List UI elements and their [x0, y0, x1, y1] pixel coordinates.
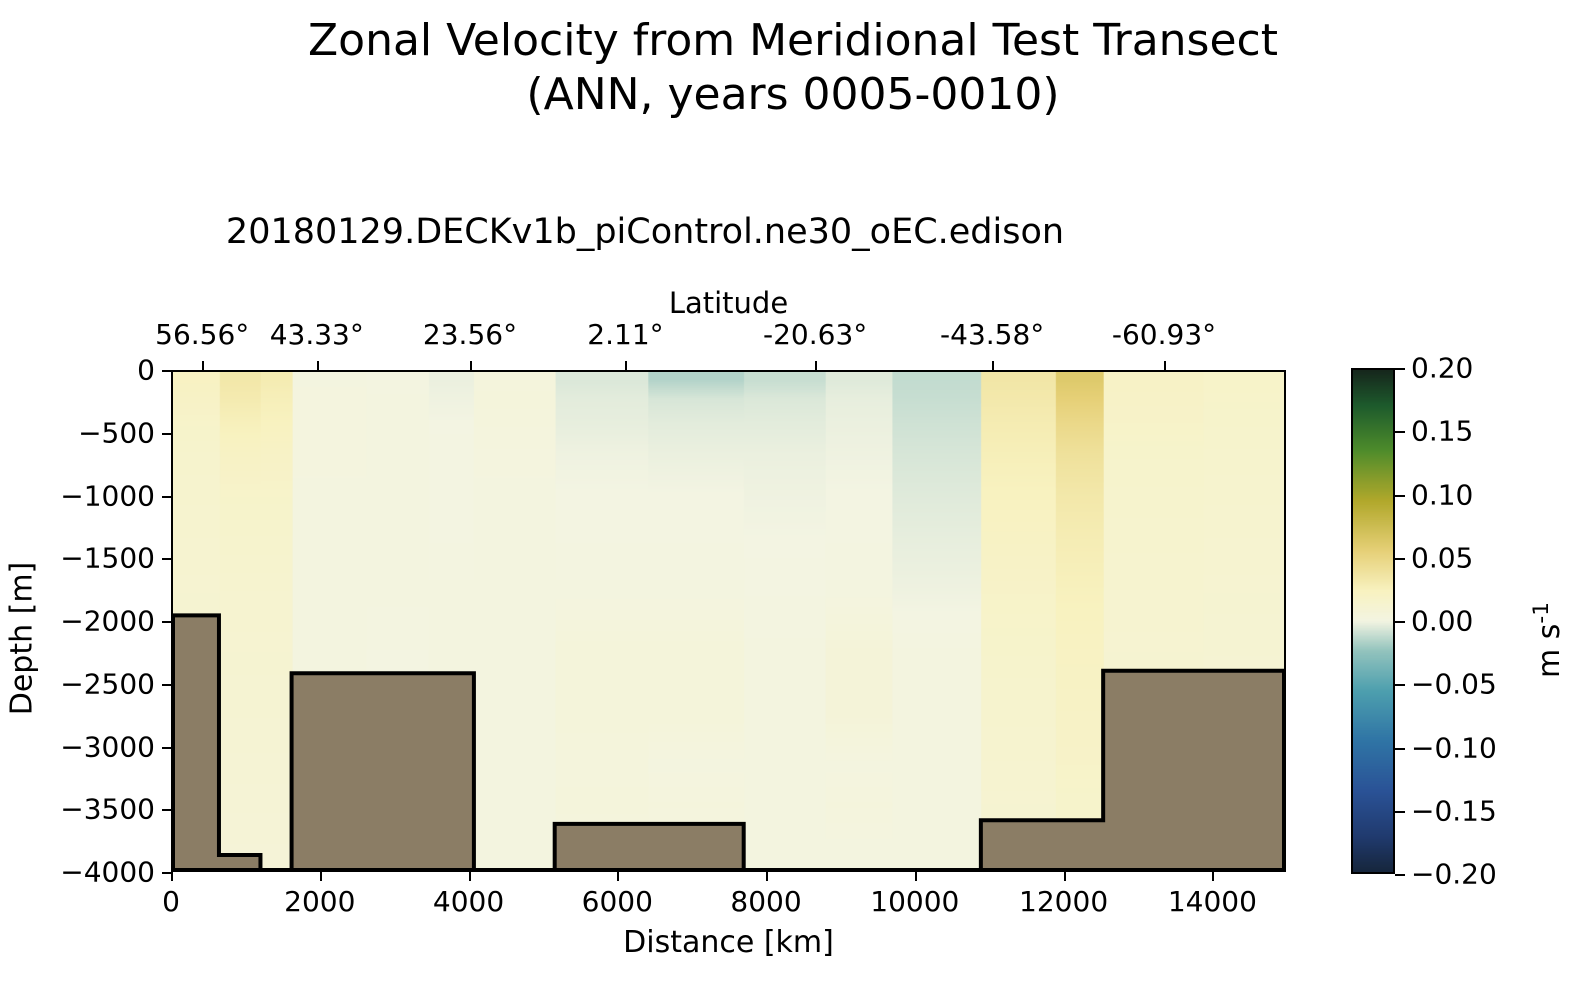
colorbar-tick-label: −0.15	[1411, 794, 1497, 827]
depth-tick-mark	[162, 809, 171, 811]
depth-tick-mark	[162, 496, 171, 498]
colorbar-tick-label: 0.00	[1411, 605, 1473, 638]
colorbar-unit: m s	[1532, 624, 1567, 678]
depth-tick-mark	[162, 370, 171, 372]
colorbar-tick-mark	[1395, 368, 1405, 370]
figure-canvas: Zonal Velocity from Meridional Test Tran…	[0, 0, 1586, 990]
distance-tick-label: 8000	[730, 885, 801, 918]
colorbar-tick-mark	[1395, 558, 1405, 560]
latitude-tick-label: -20.63°	[763, 318, 867, 351]
latitude-tick-label: -43.58°	[940, 318, 1044, 351]
distance-tick-mark	[1064, 872, 1066, 881]
latitude-tick-mark	[992, 361, 994, 370]
colorbar-tick-mark	[1395, 684, 1405, 686]
latitude-tick-mark	[202, 361, 204, 370]
colorbar-tick-mark	[1395, 621, 1405, 623]
top-axis-label: Latitude	[171, 286, 1286, 320]
colorbar-tick-label: 0.10	[1411, 478, 1473, 511]
colorbar-tick-label: −0.10	[1411, 731, 1497, 764]
distance-tick-mark	[320, 872, 322, 881]
bathymetry-polygon	[173, 615, 1284, 870]
colorbar-tick-mark	[1395, 748, 1405, 750]
depth-tick-mark	[162, 747, 171, 749]
colorbar-tick-mark	[1395, 431, 1405, 433]
depth-tick-mark	[162, 684, 171, 686]
bathymetry-mask	[173, 372, 1284, 870]
latitude-tick-mark	[317, 361, 319, 370]
latitude-tick-mark	[625, 361, 627, 370]
depth-tick-mark	[162, 558, 171, 560]
latitude-tick-label: 56.56°	[155, 318, 249, 351]
colorbar-tick-label: −0.20	[1411, 858, 1497, 891]
depth-tick-mark	[162, 621, 171, 623]
colorbar-tick-label: 0.05	[1411, 541, 1473, 574]
latitude-tick-mark	[815, 361, 817, 370]
distance-tick-mark	[1212, 872, 1214, 881]
distance-tick-mark	[171, 872, 173, 881]
plot-axes	[171, 370, 1286, 872]
colorbar	[1351, 368, 1395, 874]
distance-tick-label: 4000	[433, 885, 504, 918]
colorbar-unit-exponent: -1	[1529, 602, 1554, 624]
depth-tick-label: 0	[0, 354, 155, 387]
distance-tick-label: 14000	[1168, 885, 1257, 918]
distance-tick-label: 6000	[582, 885, 653, 918]
distance-tick-mark	[766, 872, 768, 881]
colorbar-tick-mark	[1395, 811, 1405, 813]
latitude-tick-mark	[470, 361, 472, 370]
distance-tick-label: 2000	[284, 885, 355, 918]
depth-tick-mark	[162, 433, 171, 435]
latitude-tick-mark	[1164, 361, 1166, 370]
latitude-tick-label: 2.11°	[587, 318, 663, 351]
distance-tick-mark	[915, 872, 917, 881]
figure-subtitle: 20180129.DECKv1b_piControl.ne30_oEC.edis…	[0, 212, 1290, 252]
colorbar-tick-mark	[1395, 495, 1405, 497]
depth-tick-mark	[162, 872, 171, 874]
figure-suptitle: Zonal Velocity from Meridional Test Tran…	[0, 14, 1586, 121]
distance-tick-mark	[469, 872, 471, 881]
colorbar-tick-label: 0.15	[1411, 415, 1473, 448]
distance-tick-label: 0	[162, 885, 180, 918]
latitude-tick-label: 43.33°	[270, 318, 364, 351]
colorbar-gradient	[1353, 370, 1393, 872]
left-axis-label: Depth [m]	[5, 439, 40, 839]
colorbar-tick-mark	[1395, 874, 1405, 876]
bottom-axis-label: Distance [km]	[171, 925, 1286, 960]
colorbar-tick-label: −0.05	[1411, 668, 1497, 701]
colorbar-label: m s-1	[1529, 490, 1567, 790]
latitude-tick-label: -60.93°	[1112, 318, 1216, 351]
latitude-tick-label: 23.56°	[423, 318, 517, 351]
distance-tick-mark	[617, 872, 619, 881]
colorbar-tick-label: 0.20	[1411, 352, 1473, 385]
distance-tick-label: 10000	[870, 885, 959, 918]
depth-tick-label: −4000	[0, 856, 155, 889]
distance-tick-label: 12000	[1019, 885, 1108, 918]
